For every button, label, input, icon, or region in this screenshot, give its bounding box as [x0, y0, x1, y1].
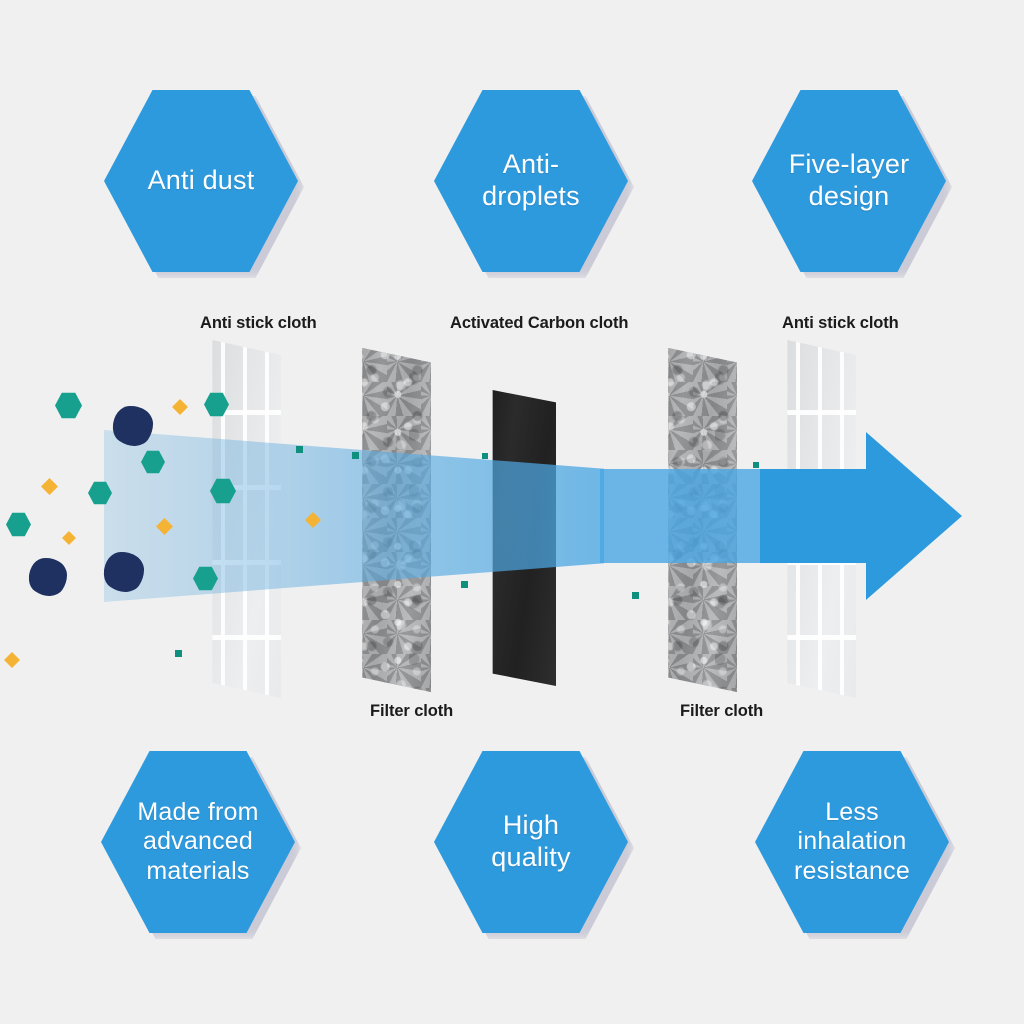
yellow-diamond-particle: [4, 652, 20, 668]
made-from-advanced-materials-badge-line-1: Made from: [137, 798, 258, 828]
teal-dot-particle: [175, 650, 182, 657]
airflow-arrow-head: [866, 432, 962, 600]
teal-dot-particle: [352, 452, 359, 459]
teal-dot-particle: [461, 581, 468, 588]
navy-blob-particle: [29, 558, 67, 596]
layer-label-filter-cloth-right: Filter cloth: [680, 702, 763, 721]
teal-hexagon-particle: [6, 512, 31, 537]
teal-dot-particle: [482, 453, 488, 459]
teal-dot-particle: [296, 446, 303, 453]
less-inhalation-resistance-badge-line-1: Less: [794, 798, 910, 828]
less-inhalation-resistance-badge-line-2: inhalation: [794, 827, 910, 857]
teal-dot-particle: [753, 462, 759, 468]
navy-blob-particle: [104, 552, 144, 592]
airflow-arrow-shaft: [760, 469, 872, 563]
high-quality-badge-line-2: quality: [491, 842, 570, 874]
made-from-advanced-materials-badge-line-3: materials: [137, 857, 258, 887]
high-quality-badge-line-1: High: [491, 810, 570, 842]
teal-hexagon-particle: [55, 392, 82, 419]
made-from-advanced-materials-badge-line-2: advanced: [137, 827, 258, 857]
layer-label-filter-cloth-left: Filter cloth: [370, 702, 453, 721]
yellow-diamond-particle: [62, 531, 76, 545]
teal-dot-particle: [632, 592, 639, 599]
navy-blob-particle: [113, 406, 153, 446]
yellow-diamond-particle: [172, 399, 188, 415]
yellow-diamond-particle: [41, 478, 58, 495]
infographic-canvas: Anti dust Anti- droplets Five-layer desi…: [0, 0, 1024, 1024]
less-inhalation-resistance-badge-line-3: resistance: [794, 857, 910, 887]
